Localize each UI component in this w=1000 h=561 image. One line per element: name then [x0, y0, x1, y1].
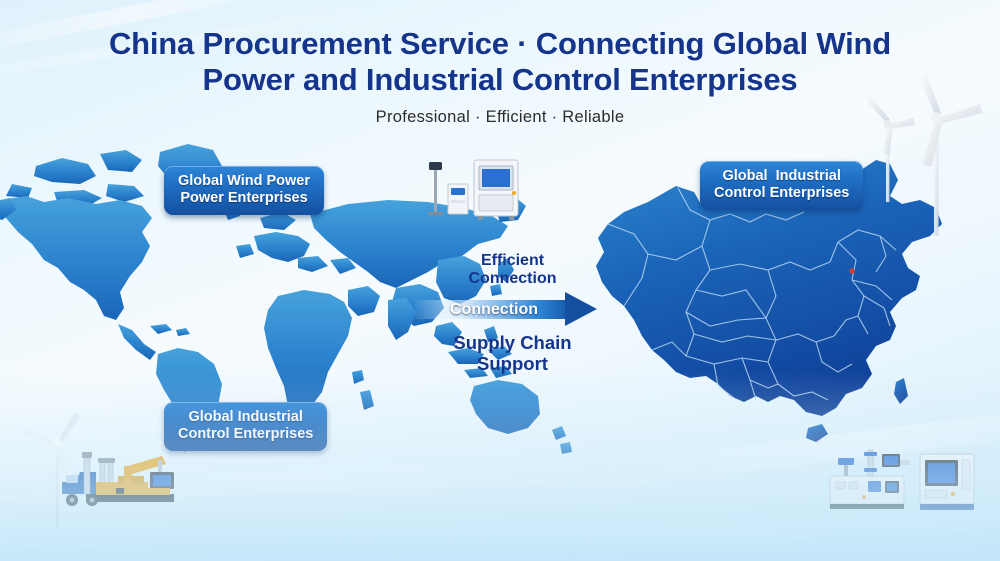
- capital-marker: [849, 268, 854, 273]
- page-subtitle: Professional · Efficient · Reliable: [0, 108, 1000, 127]
- infographic-canvas: Global Wind Power Power Enterprises Glob…: [0, 0, 1000, 561]
- arrow-label-on-arrow: Connection: [415, 299, 573, 320]
- arrow-icon: Connection: [415, 292, 610, 326]
- page-title-line2: Power and Industrial Control Enterprises: [0, 62, 1000, 98]
- industrial-control-equipment: [424, 150, 542, 222]
- arrow-label-above: Efficient Connection: [415, 252, 610, 288]
- badge-global-wind-power[interactable]: Global Wind Power Power Enterprises: [164, 166, 324, 215]
- header: China Procurement Service · Connecting G…: [0, 26, 1000, 127]
- badge-global-industrial-control-right[interactable]: Global Industrial Control Enterprises: [700, 161, 863, 210]
- badge-global-industrial-control-left[interactable]: Global Industrial Control Enterprises: [164, 402, 327, 451]
- control-cabinets: [824, 442, 982, 514]
- mobile-crane-truck: [58, 442, 186, 514]
- page-title: China Procurement Service · Connecting G…: [0, 26, 1000, 98]
- arrow-label-below: Supply Chain Support: [415, 332, 610, 375]
- connection-arrow-group: Efficient Connection Connection Supply C…: [415, 252, 610, 367]
- page-title-line1: China Procurement Service · Connecting G…: [0, 26, 1000, 62]
